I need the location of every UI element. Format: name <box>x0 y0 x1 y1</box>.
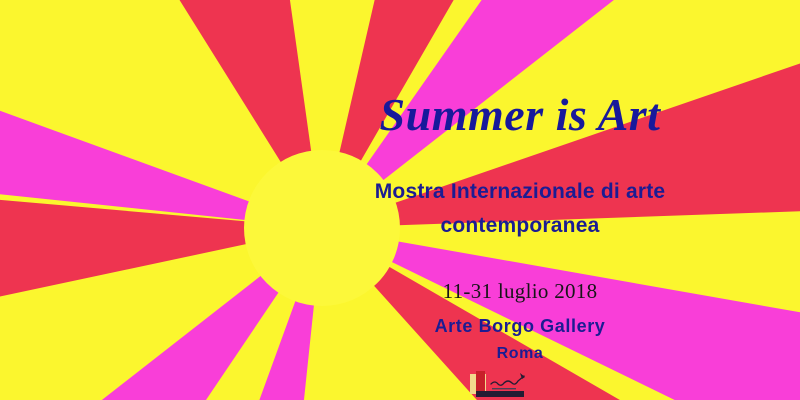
logo-script-text <box>491 376 524 385</box>
subtitle-line-2: contemporanea <box>320 209 720 243</box>
venue-city: Roma <box>320 345 720 363</box>
arte-borgo-gallery-logo <box>468 370 534 400</box>
venue-name: Arte Borgo Gallery <box>320 316 720 337</box>
page-title: Summer is Art <box>320 92 720 138</box>
logo-dark-base-bar <box>476 391 524 397</box>
subtitle-line-1: Mostra Internazionale di arte <box>320 175 720 209</box>
summer-is-art-poster: Summer is Art Mostra Internazionale di a… <box>0 0 800 400</box>
logo-subtext-line <box>492 388 516 389</box>
exhibition-dates: 11-31 luglio 2018 <box>320 279 720 304</box>
poster-content: Summer is Art Mostra Internazionale di a… <box>0 0 800 400</box>
poster-subtitle: Mostra Internazionale di arte contempora… <box>320 175 720 243</box>
